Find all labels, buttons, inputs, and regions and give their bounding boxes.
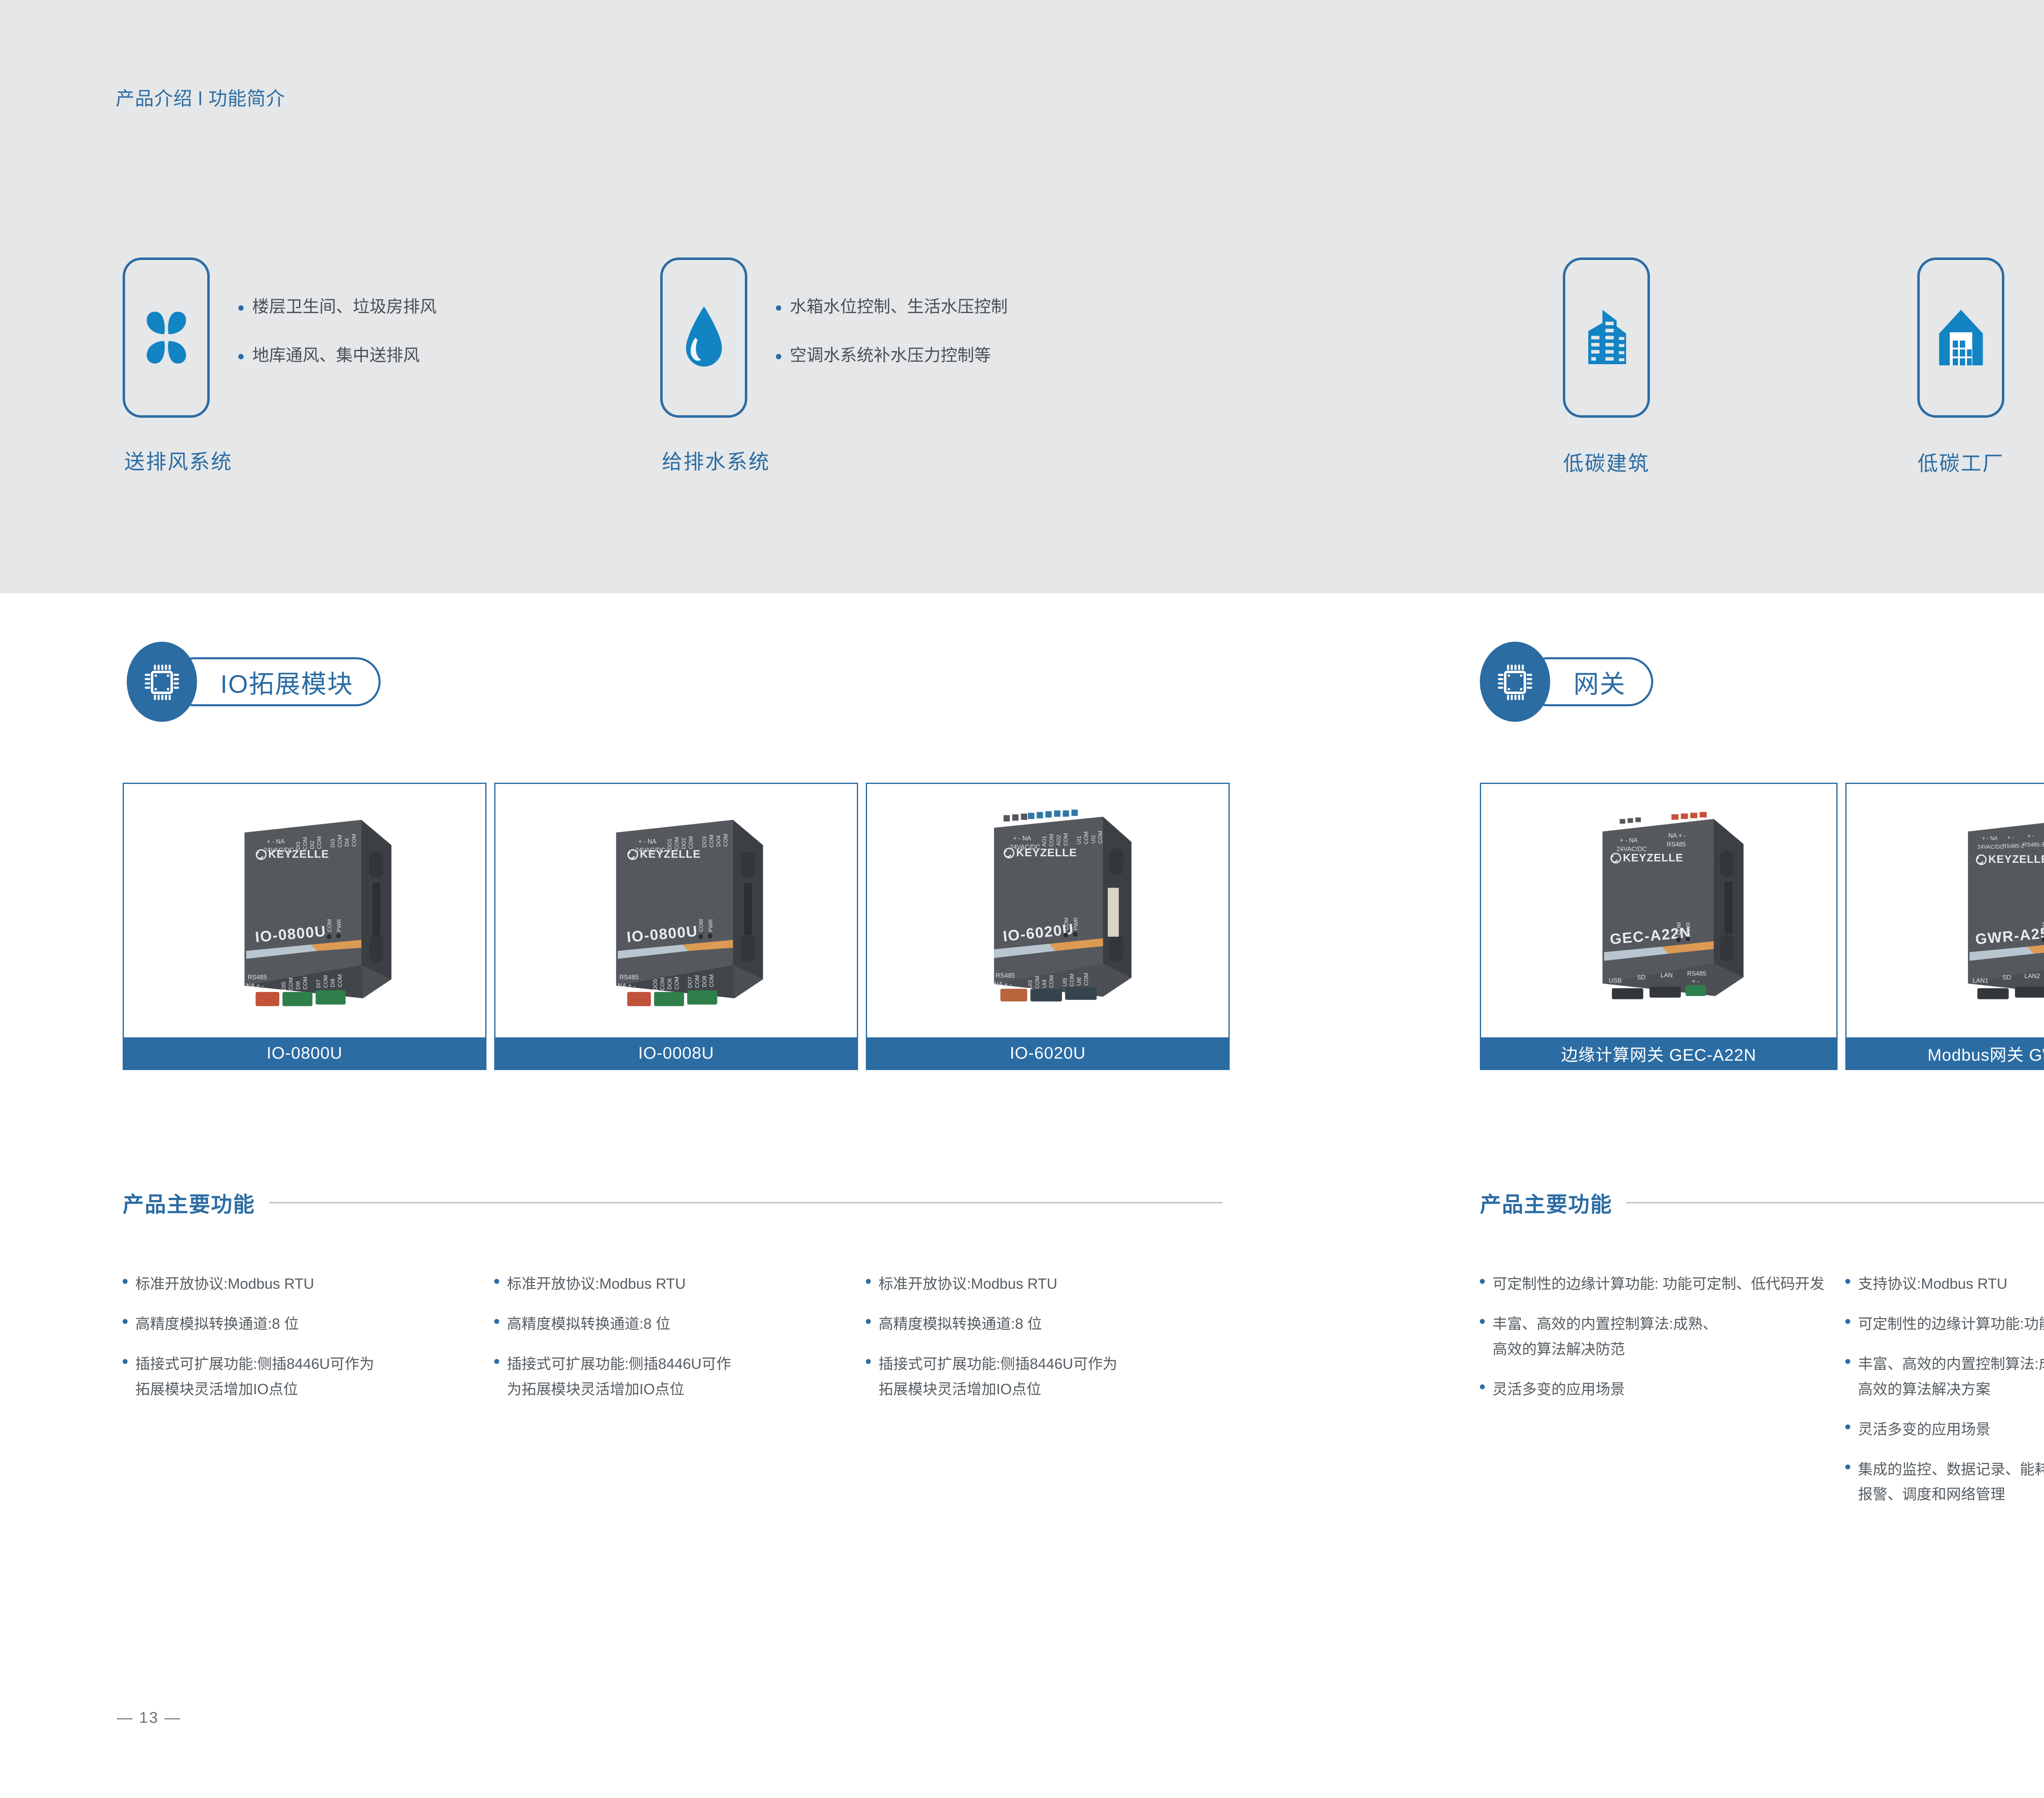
svg-text:SD: SD bbox=[2002, 974, 2011, 981]
bullet-dot bbox=[776, 354, 781, 359]
page-number-left: — 13 — bbox=[117, 1709, 181, 1727]
svg-text:KEYZELLE: KEYZELLE bbox=[640, 848, 701, 860]
svg-text:COM: COM bbox=[337, 974, 343, 987]
svg-text:COM: COM bbox=[723, 834, 729, 847]
svg-text:COM: COM bbox=[1097, 831, 1103, 844]
scenario-caption: 给排水系统 bbox=[662, 446, 770, 475]
svg-text:COM: COM bbox=[1069, 974, 1075, 987]
svg-text:+ - NA: + - NA bbox=[267, 838, 285, 845]
svg-text:KEYZELLE: KEYZELLE bbox=[1988, 853, 2044, 865]
feature-lines: 插接式可扩展功能:侧插8446U可作为拓展模块灵活增加IO点位 bbox=[135, 1351, 486, 1402]
io-0008u-device-image: + - NA 24VAC/DC DO1 COM DO2 COM DO3 COM … bbox=[533, 796, 819, 1025]
low-carbon-caption: 低碳工厂 bbox=[1917, 447, 2004, 477]
feature-column: 标准开放协议:Modbus RTU 高精度模拟转换通道:8 位 插接式可扩展功能… bbox=[494, 1271, 858, 1417]
svg-text:UI5: UI5 bbox=[1062, 978, 1068, 986]
list-item: 水箱水位控制、生活水压控制 bbox=[776, 298, 1008, 315]
feature-lines: 丰富、高效的内置控制算法:成熟、高效的算法解决防范 bbox=[1493, 1311, 1838, 1362]
bullet-text: 楼层卫生间、垃圾房排风 bbox=[252, 298, 437, 315]
svg-text:AO1: AO1 bbox=[1041, 836, 1047, 847]
feature-item: 灵活多变的应用场景 bbox=[1480, 1377, 1838, 1402]
feature-lines: 标准开放协议:Modbus RTU bbox=[879, 1271, 1057, 1296]
io-6020u-device-image: + - NA 24VAC/DC AO1 COM AO2 COM UI1 COM … bbox=[905, 796, 1191, 1025]
heading-rule bbox=[269, 1202, 1222, 1203]
chip-icon-wrap bbox=[127, 642, 197, 722]
svg-text:COM: COM bbox=[1062, 833, 1069, 846]
gec-a22n-device-image: + - NA 24VAC/DC NA + - RS485 KEYZELLE GE… bbox=[1518, 796, 1800, 1025]
feature-column: 可定制性的边缘计算功能: 功能可定制、低代码开发 丰富、高效的内置控制算法:成熟… bbox=[1480, 1271, 1838, 1522]
product-card[interactable]: + - NA 24VAC/DC NA + - RS485 KEYZELLE GE… bbox=[1480, 783, 1838, 1070]
feature-item: 高精度模拟转换通道:8 位 bbox=[866, 1311, 1230, 1337]
feature-item: 高精度模拟转换通道:8 位 bbox=[494, 1311, 858, 1337]
svg-text:COM: COM bbox=[708, 974, 715, 987]
svg-text:LAN1: LAN1 bbox=[1972, 977, 1988, 984]
svg-text:PWR: PWR bbox=[1685, 922, 1691, 935]
feature-lines: 可定制性的边缘计算功能:功能可定制、低代码开发 bbox=[1858, 1311, 2044, 1337]
svg-text:RS485: RS485 bbox=[619, 974, 639, 981]
svg-text:+ - NA: + - NA bbox=[1982, 835, 1997, 842]
section-badge-io-modules: IO拓展模块 bbox=[127, 642, 381, 722]
svg-text:DO3: DO3 bbox=[701, 836, 707, 848]
svg-text:DO8: DO8 bbox=[701, 976, 707, 987]
bullet-dot bbox=[238, 354, 244, 359]
feature-item: 标准开放协议:Modbus RTU bbox=[494, 1271, 858, 1296]
svg-text:AO2: AO2 bbox=[1056, 835, 1062, 846]
product-photo: + - NA 24VAC/DC DI1 COM DI2 COM DI3 COM … bbox=[124, 784, 485, 1037]
bullet-dot bbox=[494, 1319, 499, 1324]
svg-text:COM: COM bbox=[1083, 973, 1089, 986]
svg-text:COM: COM bbox=[327, 919, 333, 932]
svg-text:RS485-3: RS485-3 bbox=[2023, 842, 2044, 848]
svg-text:RS485: RS485 bbox=[1687, 970, 1706, 977]
svg-text:COM: COM bbox=[694, 975, 700, 988]
feature-column: 支持协议:Modbus RTU 可定制性的边缘计算功能:功能可定制、低代码开发 … bbox=[1845, 1271, 2044, 1522]
product-label: IO-0008U bbox=[495, 1037, 857, 1069]
svg-text:COM: COM bbox=[698, 919, 704, 932]
svg-text:COM: COM bbox=[1083, 831, 1089, 844]
feature-column: 标准开放协议:Modbus RTU 高精度模拟转换通道:8 位 插接式可扩展功能… bbox=[866, 1271, 1230, 1417]
svg-text:COM: COM bbox=[674, 977, 680, 990]
feature-lines: 插接式可扩展功能:侧插8446U可作为拓展模块灵活增加IO点位 bbox=[507, 1351, 858, 1402]
bullet-dot bbox=[123, 1359, 128, 1364]
bullet-dot bbox=[1845, 1359, 1850, 1364]
svg-text:NA + -: NA + - bbox=[994, 981, 1012, 988]
svg-text:KEYZELLE: KEYZELLE bbox=[1016, 846, 1077, 859]
bullet-dot bbox=[494, 1279, 499, 1284]
svg-text:DI4: DI4 bbox=[344, 838, 350, 847]
svg-text:PWR: PWR bbox=[336, 919, 342, 932]
product-label: IO-0800U bbox=[124, 1037, 485, 1069]
feature-lines: 灵活多变的应用场景 bbox=[1858, 1417, 1990, 1442]
svg-text:COM: COM bbox=[316, 836, 323, 849]
svg-text:+ -: + - bbox=[2027, 833, 2034, 839]
features-title: 产品主要功能 bbox=[1480, 1187, 1612, 1218]
bullet-dot bbox=[123, 1279, 128, 1284]
fan-icon bbox=[138, 305, 195, 370]
svg-text:COM: COM bbox=[688, 836, 694, 849]
chip-icon-wrap bbox=[1480, 642, 1550, 722]
svg-text:RS485-2: RS485-2 bbox=[2002, 843, 2024, 849]
bullet-dot bbox=[1845, 1319, 1850, 1324]
svg-text:COM: COM bbox=[351, 834, 357, 847]
svg-text:DI7: DI7 bbox=[316, 979, 322, 988]
bullet-dot bbox=[1845, 1464, 1850, 1469]
feature-item: 可定制性的边缘计算功能: 功能可定制、低代码开发 bbox=[1480, 1271, 1838, 1296]
svg-text:NA + -: NA + - bbox=[246, 983, 264, 990]
feature-lines: 高精度模拟转换通道:8 位 bbox=[879, 1311, 1042, 1337]
feature-lines: 灵活多变的应用场景 bbox=[1493, 1377, 1625, 1402]
product-photo: + - NA + - + - + - + - 24VAC/DC RS485-2 … bbox=[1847, 784, 2044, 1037]
bullet-dot bbox=[1845, 1424, 1850, 1429]
svg-text:COM: COM bbox=[1676, 922, 1682, 935]
water-drop-icon-box bbox=[660, 257, 747, 418]
svg-text:DO2: DO2 bbox=[681, 838, 687, 849]
feature-column: 标准开放协议:Modbus RTU 高精度模拟转换通道:8 位 插接式可扩展功能… bbox=[123, 1271, 486, 1417]
feature-lines: 可定制性的边缘计算功能: 功能可定制、低代码开发 bbox=[1493, 1271, 1824, 1296]
feature-lines: 标准开放协议:Modbus RTU bbox=[507, 1271, 686, 1296]
running-header-left: 产品介绍 l 功能简介 bbox=[116, 84, 285, 111]
svg-text:+ -: + - bbox=[2007, 835, 2013, 841]
scenario-caption: 送排风系统 bbox=[124, 446, 233, 475]
list-item: 空调水系统补水压力控制等 bbox=[776, 347, 1008, 364]
svg-text:PWR: PWR bbox=[1073, 918, 1079, 931]
product-label: IO-6020U bbox=[867, 1037, 1228, 1069]
svg-text:COM: COM bbox=[302, 977, 308, 990]
feature-item: 灵活多变的应用场景 bbox=[1845, 1417, 2044, 1442]
svg-text:+ - NA: + - NA bbox=[1013, 835, 1031, 842]
feature-item: 高精度模拟转换通道:8 位 bbox=[123, 1311, 486, 1337]
bullet-dot bbox=[1845, 1279, 1850, 1284]
factory-building-icon bbox=[1934, 305, 1988, 370]
feature-lines: 标准开放协议:Modbus RTU bbox=[135, 1271, 314, 1296]
svg-text:UI6: UI6 bbox=[1076, 977, 1082, 985]
svg-text:+ - NA: + - NA bbox=[638, 838, 657, 845]
features-heading-right: 产品主要功能 bbox=[1480, 1187, 2044, 1218]
svg-text:NA + -: NA + - bbox=[1668, 833, 1686, 840]
svg-text:COM: COM bbox=[323, 975, 329, 988]
section-badge-label: IO拓展模块 bbox=[170, 657, 381, 706]
low-carbon-card-building: 低碳建筑 bbox=[1563, 257, 1650, 477]
svg-text:COM: COM bbox=[659, 978, 666, 991]
svg-text:RS485: RS485 bbox=[1667, 841, 1686, 848]
water-drop-icon bbox=[677, 303, 731, 372]
product-photo: + - NA 24VAC/DC DO1 COM DO2 COM DO3 COM … bbox=[495, 784, 857, 1037]
bullet-text: 水箱水位控制、生活水压控制 bbox=[790, 298, 1008, 315]
features-columns-left: 标准开放协议:Modbus RTU 高精度模拟转换通道:8 位 插接式可扩展功能… bbox=[123, 1271, 1230, 1417]
feature-lines: 高精度模拟转换通道:8 位 bbox=[507, 1311, 670, 1337]
product-card[interactable]: + - NA 24VAC/DC DO1 COM DO2 COM DO3 COM … bbox=[494, 783, 858, 1070]
bullet-dot bbox=[123, 1319, 128, 1324]
svg-text:COM: COM bbox=[1049, 834, 1055, 847]
feature-lines: 插接式可扩展功能:侧插8446U可作为拓展模块灵活增加IO点位 bbox=[879, 1351, 1230, 1402]
svg-text:COM: COM bbox=[708, 835, 715, 848]
bullet-dot bbox=[494, 1359, 499, 1364]
svg-text:COM: COM bbox=[337, 835, 343, 848]
heading-rule bbox=[1626, 1202, 2044, 1203]
list-item: 地库通风、集中送排风 bbox=[238, 347, 437, 364]
svg-text:COM: COM bbox=[2041, 922, 2044, 935]
feature-item: 可定制性的边缘计算功能:功能可定制、低代码开发 bbox=[1845, 1311, 2044, 1337]
low-carbon-card-factory: 低碳工厂 bbox=[1917, 257, 2004, 477]
product-photo: + - NA 24VAC/DC NA + - RS485 KEYZELLE GE… bbox=[1481, 784, 1836, 1037]
svg-text:KEYZELLE: KEYZELLE bbox=[1623, 851, 1683, 864]
feature-item: 标准开放协议:Modbus RTU bbox=[866, 1271, 1230, 1296]
svg-text:LAN: LAN bbox=[1660, 972, 1672, 979]
io-0800u-device-image: + - NA 24VAC/DC DI1 COM DI2 COM DI3 COM … bbox=[161, 796, 448, 1025]
svg-text:COM: COM bbox=[1034, 976, 1040, 989]
svg-text:USB: USB bbox=[1609, 977, 1622, 984]
product-card[interactable]: + - NA 24VAC/DC DI1 COM DI2 COM DI3 COM … bbox=[123, 783, 486, 1070]
list-item: 楼层卫生间、垃圾房排风 bbox=[238, 298, 437, 315]
features-columns-right: 可定制性的边缘计算功能: 功能可定制、低代码开发 丰富、高效的内置控制算法:成熟… bbox=[1480, 1271, 2044, 1522]
feature-item: 插接式可扩展功能:侧插8446U可作为拓展模块灵活增加IO点位 bbox=[866, 1351, 1230, 1402]
svg-text:COM: COM bbox=[1063, 918, 1069, 931]
product-photo: + - NA 24VAC/DC AO1 COM AO2 COM UI1 COM … bbox=[867, 784, 1228, 1037]
svg-text:DO4: DO4 bbox=[715, 835, 722, 846]
product-card[interactable]: + - NA 24VAC/DC AO1 COM AO2 COM UI1 COM … bbox=[866, 783, 1230, 1070]
bullet-text: 地库通风、集中送排风 bbox=[252, 347, 420, 364]
brochure-spread: 产品介绍 l 功能简介 产品介绍 l 功能简介 楼层卫生间、垃圾房排风 bbox=[0, 0, 2044, 1798]
io-product-row: + - NA 24VAC/DC DI1 COM DI2 COM DI3 COM … bbox=[123, 783, 1230, 1070]
bullet-text: 空调水系统补水压力控制等 bbox=[790, 347, 991, 364]
chip-icon bbox=[1495, 659, 1535, 704]
bullet-dot bbox=[866, 1279, 871, 1284]
svg-text:PWR: PWR bbox=[708, 919, 714, 932]
feature-item: 丰富、高效的内置控制算法:成熟、高效的算法解决防范 bbox=[1480, 1311, 1838, 1362]
chip-icon bbox=[142, 659, 182, 704]
bullet-dot bbox=[866, 1359, 871, 1364]
svg-text:RS485: RS485 bbox=[248, 974, 267, 981]
product-card[interactable]: + - NA + - + - + - + - 24VAC/DC RS485-2 … bbox=[1845, 783, 2044, 1070]
svg-text:RS485: RS485 bbox=[996, 972, 1015, 979]
svg-text:UI2: UI2 bbox=[1090, 835, 1096, 844]
svg-text:COM: COM bbox=[1049, 975, 1055, 988]
feature-lines: 高精度模拟转换通道:8 位 bbox=[135, 1311, 299, 1337]
ventilation-bullet-list: 楼层卫生间、垃圾房排风 地库通风、集中送排风 bbox=[238, 298, 437, 396]
product-label: Modbus网关 GWR-A25N bbox=[1847, 1037, 2044, 1069]
bullet-dot bbox=[776, 305, 781, 311]
svg-text:UI1: UI1 bbox=[1076, 836, 1082, 844]
feature-item: 集成的监控、数据记录、能耗计量、报警、调度和网络管理 bbox=[1845, 1457, 2044, 1507]
feature-lines: 丰富、高效的内置控制算法:成熟、高效的算法解决方案 bbox=[1858, 1351, 2044, 1402]
features-title: 产品主要功能 bbox=[123, 1187, 255, 1218]
svg-text:COM: COM bbox=[288, 978, 294, 991]
top-gray-band bbox=[0, 0, 2044, 593]
office-building-icon bbox=[1580, 305, 1633, 370]
factory-building-icon-box bbox=[1917, 257, 2004, 418]
svg-text:DO6: DO6 bbox=[666, 978, 672, 990]
svg-text:UI3: UI3 bbox=[1027, 980, 1033, 989]
feature-item: 丰富、高效的内置控制算法:成熟、高效的算法解决方案 bbox=[1845, 1351, 2044, 1402]
product-label: 边缘计算网关 GEC-A22N bbox=[1481, 1037, 1836, 1069]
svg-text:KEYZELLE: KEYZELLE bbox=[268, 848, 329, 860]
bullet-dot bbox=[1480, 1279, 1485, 1284]
feature-item: 插接式可扩展功能:侧插8446U可作为拓展模块灵活增加IO点位 bbox=[494, 1351, 858, 1402]
svg-text:DO5: DO5 bbox=[652, 979, 659, 990]
fan-icon-box bbox=[123, 257, 210, 418]
svg-text:DI3: DI3 bbox=[329, 839, 336, 848]
bullet-dot bbox=[866, 1319, 871, 1324]
svg-text:DI8: DI8 bbox=[329, 978, 336, 987]
feature-item: 支持协议:Modbus RTU bbox=[1845, 1271, 2044, 1296]
low-carbon-caption: 低碳建筑 bbox=[1563, 447, 1650, 477]
svg-text:+ -: + - bbox=[1692, 978, 1699, 985]
svg-text:UI4: UI4 bbox=[1041, 979, 1047, 988]
svg-text:DO7: DO7 bbox=[687, 976, 693, 988]
water-bullet-list: 水箱水位控制、生活水压控制 空调水系统补水压力控制等 bbox=[776, 298, 1008, 396]
gateway-product-row: + - NA 24VAC/DC NA + - RS485 KEYZELLE GE… bbox=[1480, 783, 2044, 1070]
feature-lines: 支持协议:Modbus RTU bbox=[1858, 1271, 2007, 1296]
svg-text:DI6: DI6 bbox=[295, 981, 301, 990]
office-building-icon-box bbox=[1563, 257, 1650, 418]
svg-text:NA + -: NA + - bbox=[618, 983, 635, 990]
feature-lines: 集成的监控、数据记录、能耗计量、报警、调度和网络管理 bbox=[1858, 1457, 2044, 1507]
bullet-dot bbox=[1480, 1319, 1485, 1324]
svg-text:SD: SD bbox=[1637, 974, 1645, 981]
bullet-dot bbox=[238, 305, 244, 311]
svg-text:DI5: DI5 bbox=[281, 982, 287, 990]
bullet-dot bbox=[1480, 1384, 1485, 1389]
svg-text:+ - NA: + - NA bbox=[1620, 837, 1638, 844]
feature-item: 标准开放协议:Modbus RTU bbox=[123, 1271, 486, 1296]
svg-text:24VAC/DC: 24VAC/DC bbox=[1977, 844, 2004, 850]
gwr-a25n-device-image: + - NA + - + - + - + - 24VAC/DC RS485-2 … bbox=[1883, 796, 2044, 1025]
feature-item: 插接式可扩展功能:侧插8446U可作为拓展模块灵活增加IO点位 bbox=[123, 1351, 486, 1402]
section-badge-gateway: 网关 bbox=[1480, 642, 1653, 722]
svg-text:LAN2: LAN2 bbox=[2024, 973, 2040, 980]
features-heading-left: 产品主要功能 bbox=[123, 1187, 1222, 1218]
